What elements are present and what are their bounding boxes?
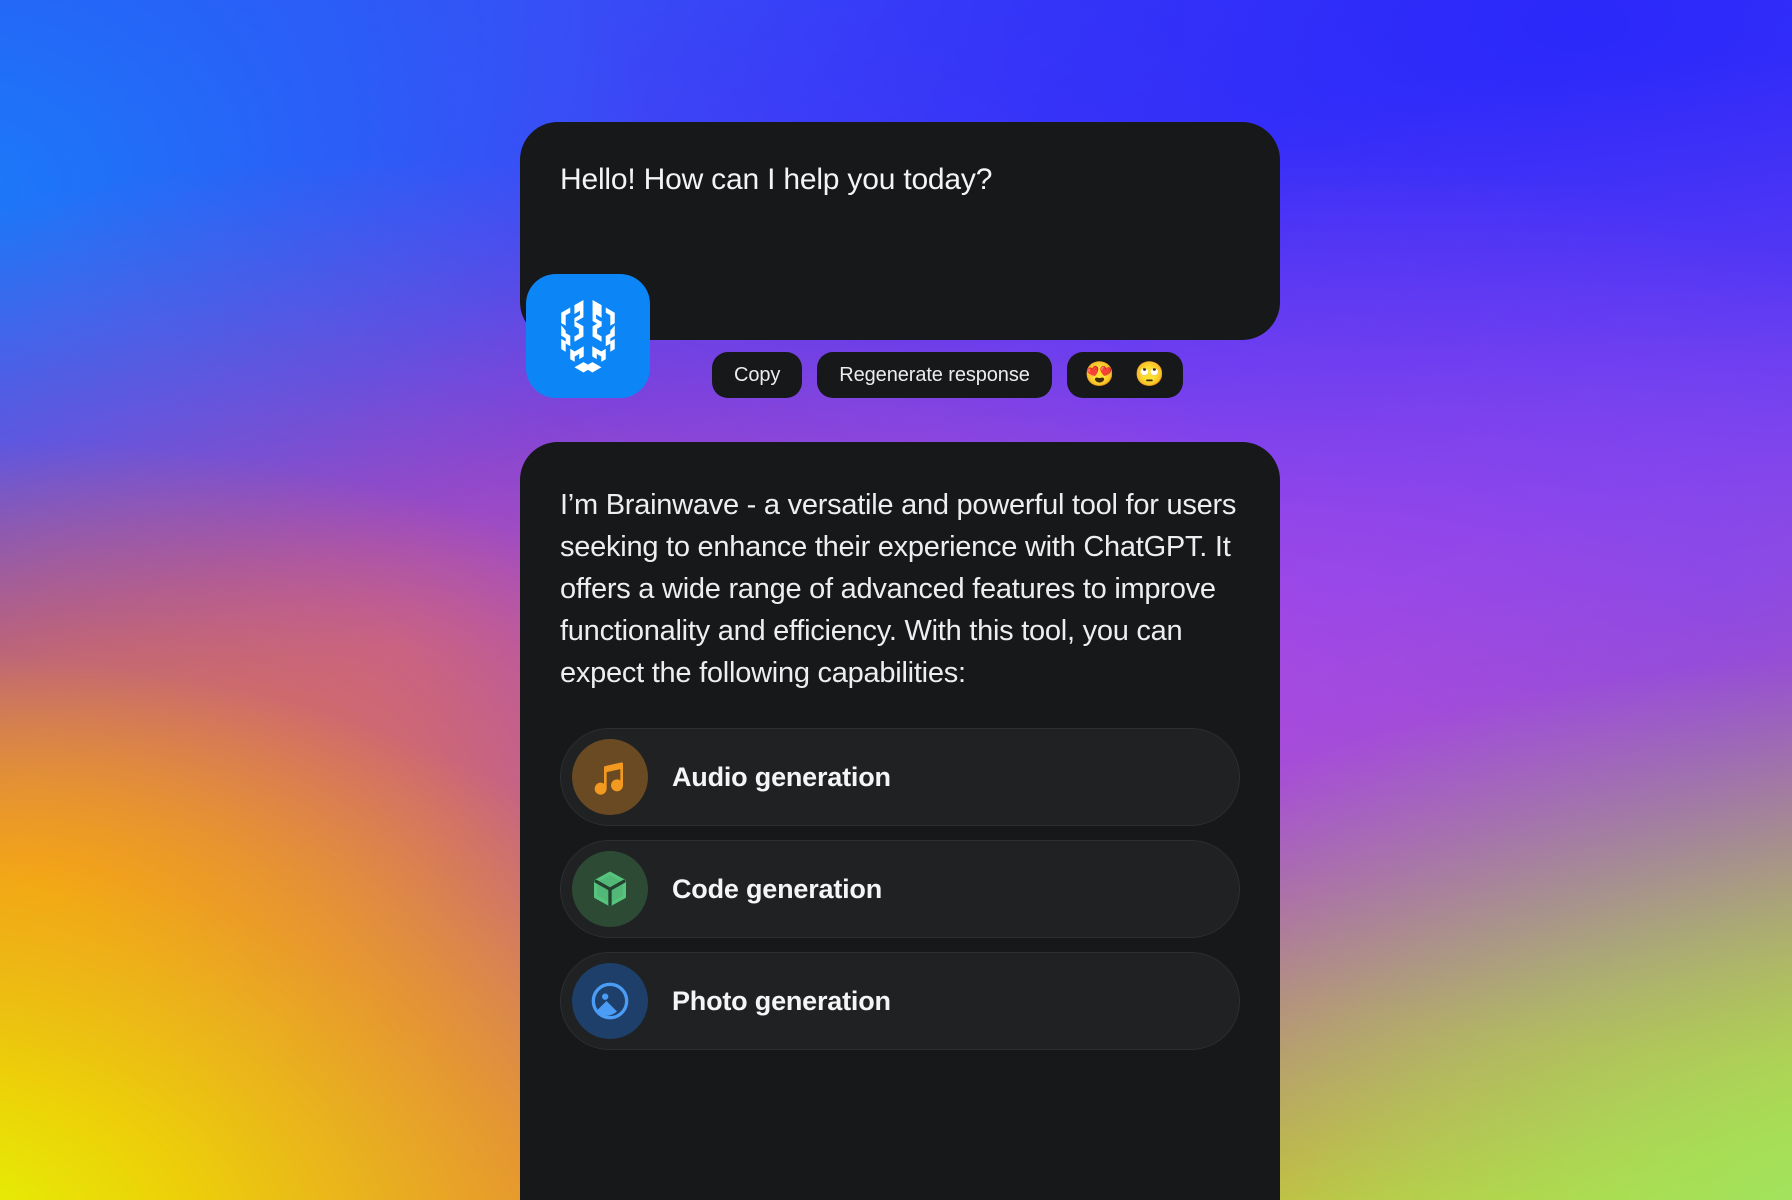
- feature-label: Code generation: [672, 874, 882, 905]
- rolling-eyes-emoji[interactable]: 🙄: [1135, 363, 1165, 387]
- feature-label: Photo generation: [672, 986, 891, 1017]
- avatar: [526, 274, 650, 398]
- reaction-button-group: 😍 🙄: [1067, 352, 1183, 398]
- music-note-icon: [572, 739, 648, 815]
- photo-image-icon: [572, 963, 648, 1039]
- feature-item-code-generation[interactable]: Code generation: [560, 840, 1240, 938]
- answer-message-card: I’m Brainwave - a versatile and powerful…: [520, 442, 1280, 1200]
- regenerate-response-button[interactable]: Regenerate response: [817, 352, 1051, 398]
- feature-label: Audio generation: [672, 762, 891, 793]
- answer-paragraph: I’m Brainwave - a versatile and powerful…: [560, 484, 1240, 694]
- greeting-text: Hello! How can I help you today?: [560, 160, 1240, 199]
- cube-icon: [572, 851, 648, 927]
- copy-button[interactable]: Copy: [712, 352, 802, 398]
- feature-item-audio-generation[interactable]: Audio generation: [560, 728, 1240, 826]
- brainwave-logo-icon: [545, 293, 631, 379]
- feature-item-photo-generation[interactable]: Photo generation: [560, 952, 1240, 1050]
- heart-eyes-emoji[interactable]: 😍: [1085, 363, 1115, 387]
- feature-list: Audio generation Code generation: [560, 728, 1240, 1050]
- chat-column: Hello! How can I help you today?: [520, 0, 1280, 1200]
